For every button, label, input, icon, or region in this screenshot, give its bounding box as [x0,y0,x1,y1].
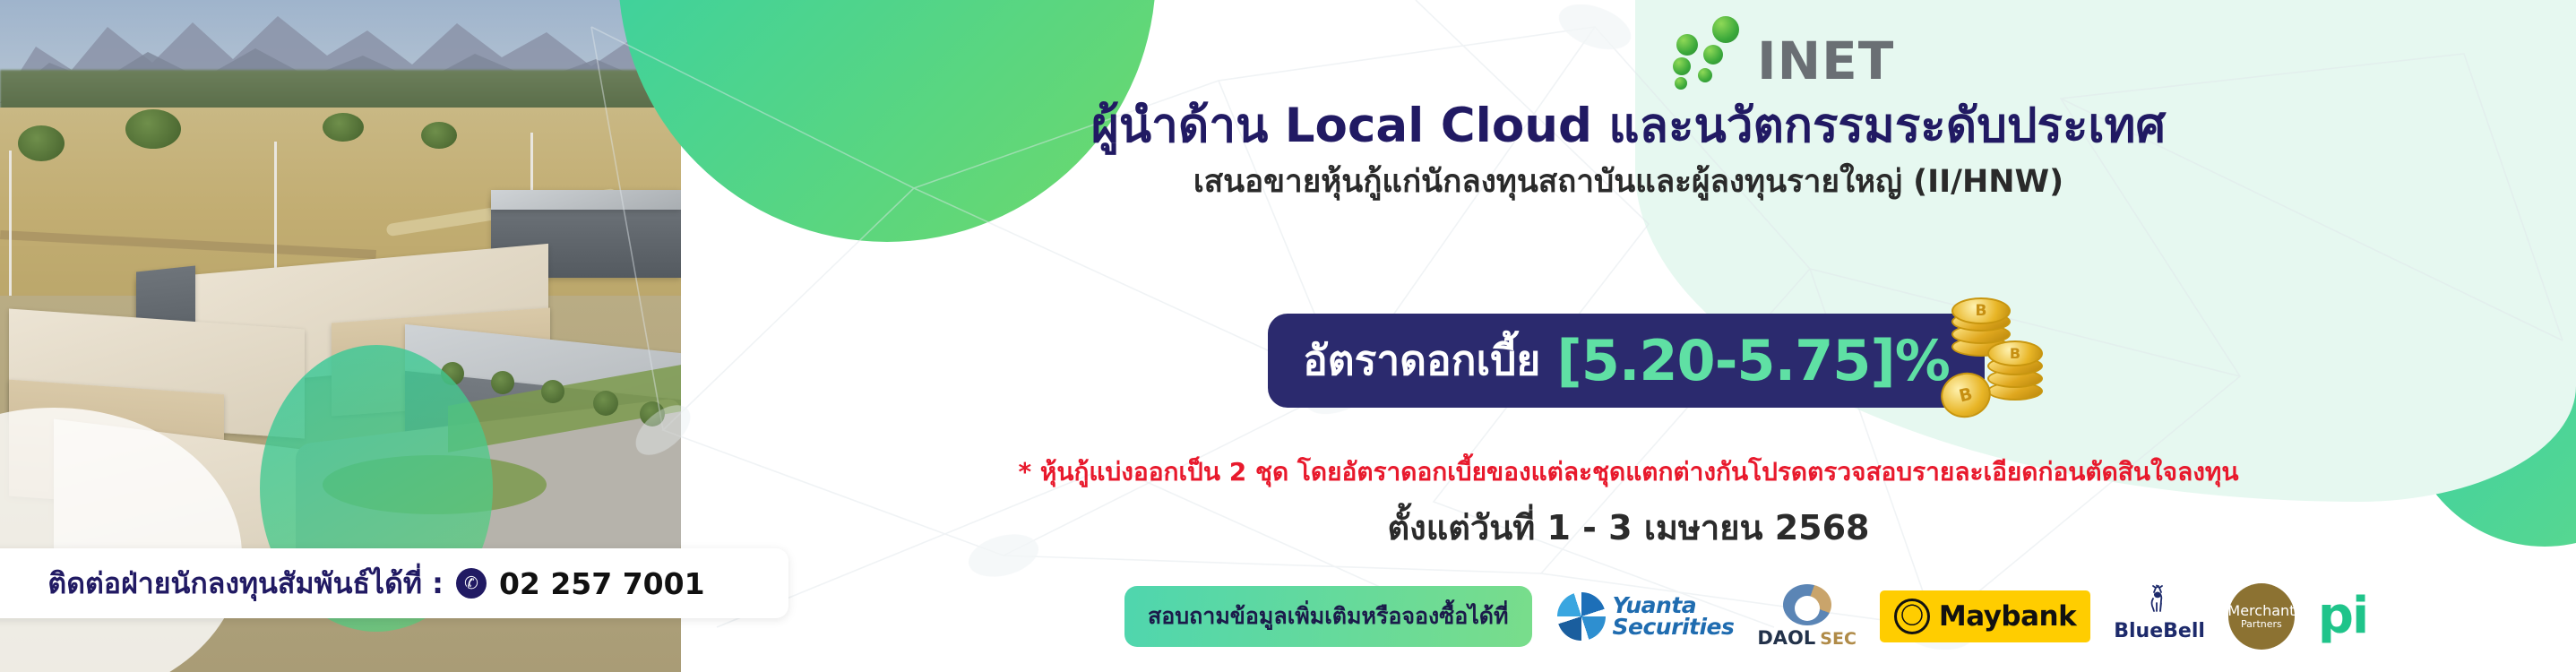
subheadline: เสนอขายหุ้นกู้แก่นักลงทุนสถาบันและผู้ลงท… [681,157,2576,206]
bluebell-deer-icon [2141,584,2177,620]
coin-face: B [1987,340,2043,366]
yuanta-line2: Securities [1613,614,1735,640]
logo-bubble-icon [1712,16,1739,43]
maybank-badge: Maybank [1880,590,2090,642]
coin-face: B [1951,297,2011,324]
daol-sec-label: SEC [1820,629,1857,649]
coin-face: B [1936,367,1995,423]
utility-pole [9,151,12,312]
partner-logo-bluebell[interactable]: BlueBell [2114,584,2205,649]
offering-date: ตั้งแต่วันที่ 1 - 3 เมษายน 2568 [681,500,2576,555]
merchant-line1: Merchant [2227,604,2295,619]
contact-phone-number[interactable]: 02 257 7001 [499,566,705,601]
content-column: INET ผู้นำด้าน Local Cloud และนวัตกรรมระ… [681,0,2576,672]
partner-logo-yuanta[interactable]: Yuanta Securities [1557,584,1735,649]
partner-logo-maybank[interactable]: Maybank [1880,584,2090,649]
daol-wordmark: DAOL [1757,627,1815,649]
building-roof [491,190,681,210]
interest-rate-box: อัตราดอกเบี้ย [5.20-5.75]% [1268,314,1985,408]
disclaimer-note: * หุ้นกู้แบ่งออกเป็น 2 ชุด โดยอัตราดอกเบ… [681,452,2576,492]
palm-tree [640,401,665,426]
partner-logos: Yuanta Securities DAOL SEC Maybank [1557,584,2368,649]
partner-logo-pi[interactable]: pi [2318,584,2367,649]
interest-rate-value: [5.20-5.75]% [1556,328,1949,393]
logo-bubble-icon [1676,34,1698,56]
tree [18,125,65,161]
promo-banner: INET ผู้นำด้าน Local Cloud และนวัตกรรมระ… [0,0,2576,672]
tree [323,113,364,142]
palm-tree [593,391,618,416]
inet-wordmark: INET [1757,30,1894,91]
bitcoin-coin-stack-icon: B B B [1935,296,2061,421]
maybank-wordmark: Maybank [1939,600,2076,633]
palm-tree [541,380,564,403]
maybank-tiger-icon [1894,599,1930,634]
tree [125,109,181,149]
interest-rate-label: อัตราดอกเบี้ย [1303,328,1540,393]
palm-tree [491,371,514,394]
cta-row: สอบถามข้อมูลเพิ่มเติมหรือจองซื้อได้ที่ Y… [1124,581,2576,652]
partner-logo-merchant[interactable]: Merchant Partners [2228,584,2295,649]
tree [421,122,457,149]
merchant-circle-icon: Merchant Partners [2228,583,2295,650]
bluebell-wordmark: BlueBell [2114,620,2205,642]
investor-relations-contact-card: ติดต่อฝ่ายนักลงทุนสัมพันธ์ได้ที่ : ✆ 02 … [0,548,788,618]
pi-wordmark: pi [2318,597,2367,637]
yuanta-wordmark: Yuanta Securities [1613,595,1735,638]
logo-bubble-icon [1698,68,1712,82]
daol-circle-icon [1783,584,1831,625]
yuanta-star-icon [1557,592,1606,641]
inquiry-button[interactable]: สอบถามข้อมูลเพิ่มเติมหรือจองซื้อได้ที่ [1124,586,1532,647]
partner-logo-daol[interactable]: DAOL SEC [1757,584,1857,649]
utility-pole [274,142,277,276]
logo-bubble-icon [1673,57,1691,75]
headline: ผู้นำด้าน Local Cloud และนวัตกรรมระดับปร… [681,88,2576,163]
inet-logo: INET [1671,13,1958,84]
phone-icon: ✆ [456,568,487,599]
contact-label: ติดต่อฝ่ายนักลงทุนสัมพันธ์ได้ที่ : [47,561,444,607]
merchant-line2: Partners [2241,619,2282,630]
logo-bubble-icon [1703,45,1723,65]
